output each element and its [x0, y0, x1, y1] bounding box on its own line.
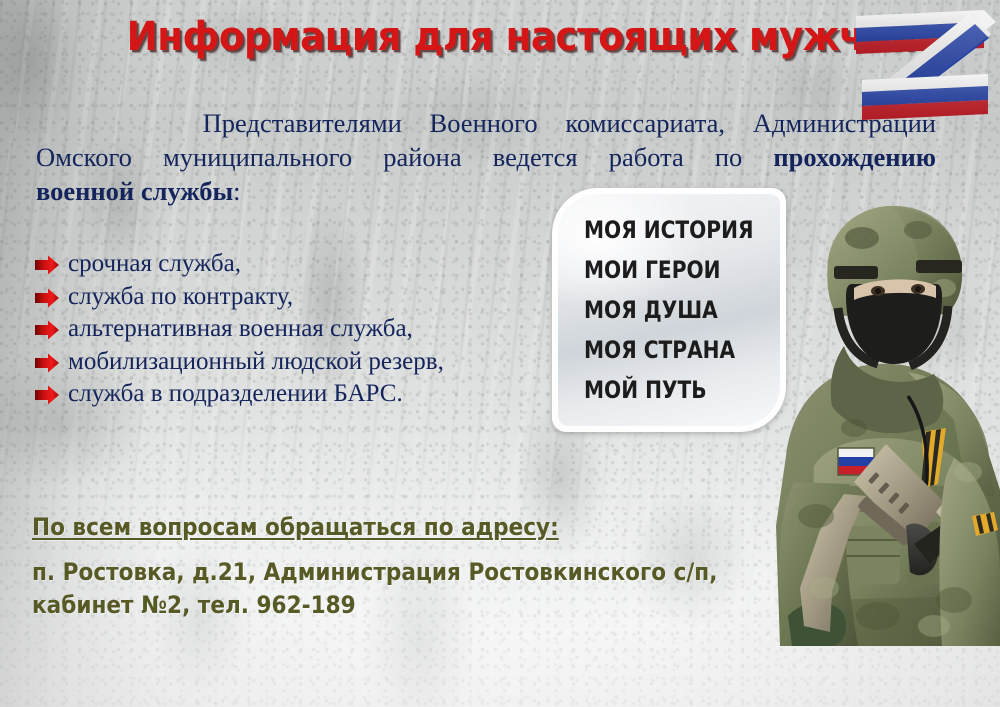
page-title: Информация для настоящих мужчин!!!: [127, 17, 834, 57]
intro-line-3-tail: :: [233, 176, 240, 206]
list-item: служба по контракту,: [34, 281, 554, 314]
intro-line-2-bold: прохождению: [773, 142, 936, 172]
poster-canvas: Информация для настоящих мужчин!!!: [0, 0, 1000, 707]
intro-line-3-bold: военной службы: [36, 176, 233, 206]
intro-line-1: Представителями Военного комиссариата, А…: [203, 108, 936, 138]
list-item: служба в подразделении БАРС.: [34, 378, 554, 411]
intro-paragraph: Представителями Военного комиссариата, А…: [36, 106, 936, 208]
soldier-photo: [758, 196, 1000, 646]
contact-spacer: [32, 542, 732, 556]
list-item-label: служба по контракту,: [68, 284, 293, 310]
list-item-label: срочная служба,: [68, 251, 241, 277]
arrow-right-icon: [34, 385, 60, 405]
arrow-right-icon: [34, 320, 60, 340]
list-item: мобилизационный людской резерв,: [34, 346, 554, 379]
arrow-right-icon: [34, 353, 60, 373]
list-item-label: служба в подразделении БАРС.: [68, 381, 403, 407]
contact-address-line-2: кабинет №2, тел. 962-189: [32, 589, 662, 622]
intro-line-2-plain: Омского муниципального района ведется ра…: [36, 142, 773, 172]
slogan-line: МОЯ ДУША: [584, 290, 749, 330]
service-options-list: срочная служба, служба по контракту,: [34, 248, 554, 411]
slogan-speech-bubble: МОЯ ИСТОРИЯ МОИ ГЕРОИ МОЯ ДУША МОЯ СТРАН…: [552, 188, 786, 432]
contact-address-line-1: п. Ростовка, д.21, Администрация Ростовк…: [32, 556, 662, 589]
list-item-label: альтернативная военная служба,: [68, 316, 413, 342]
arrow-right-icon: [34, 255, 60, 275]
list-item-label: мобилизационный людской резерв,: [68, 349, 444, 375]
slogan-line: МОЯ ИСТОРИЯ: [584, 210, 749, 250]
arrow-right-icon: [34, 288, 60, 308]
list-item: срочная служба,: [34, 248, 554, 281]
slogan-bubble-inner: МОЯ ИСТОРИЯ МОИ ГЕРОИ МОЯ ДУША МОЯ СТРАН…: [558, 194, 780, 426]
contact-block: По всем вопросам обращаться по адресу: п…: [32, 512, 732, 622]
contact-heading: По всем вопросам обращаться по адресу:: [32, 512, 662, 542]
slogan-line: МОЙ ПУТЬ: [584, 370, 749, 410]
list-item: альтернативная военная служба,: [34, 313, 554, 346]
slogan-line: МОЯ СТРАНА: [584, 330, 749, 370]
slogan-line: МОИ ГЕРОИ: [584, 250, 749, 290]
z-ribbon-icon: [848, 4, 998, 120]
